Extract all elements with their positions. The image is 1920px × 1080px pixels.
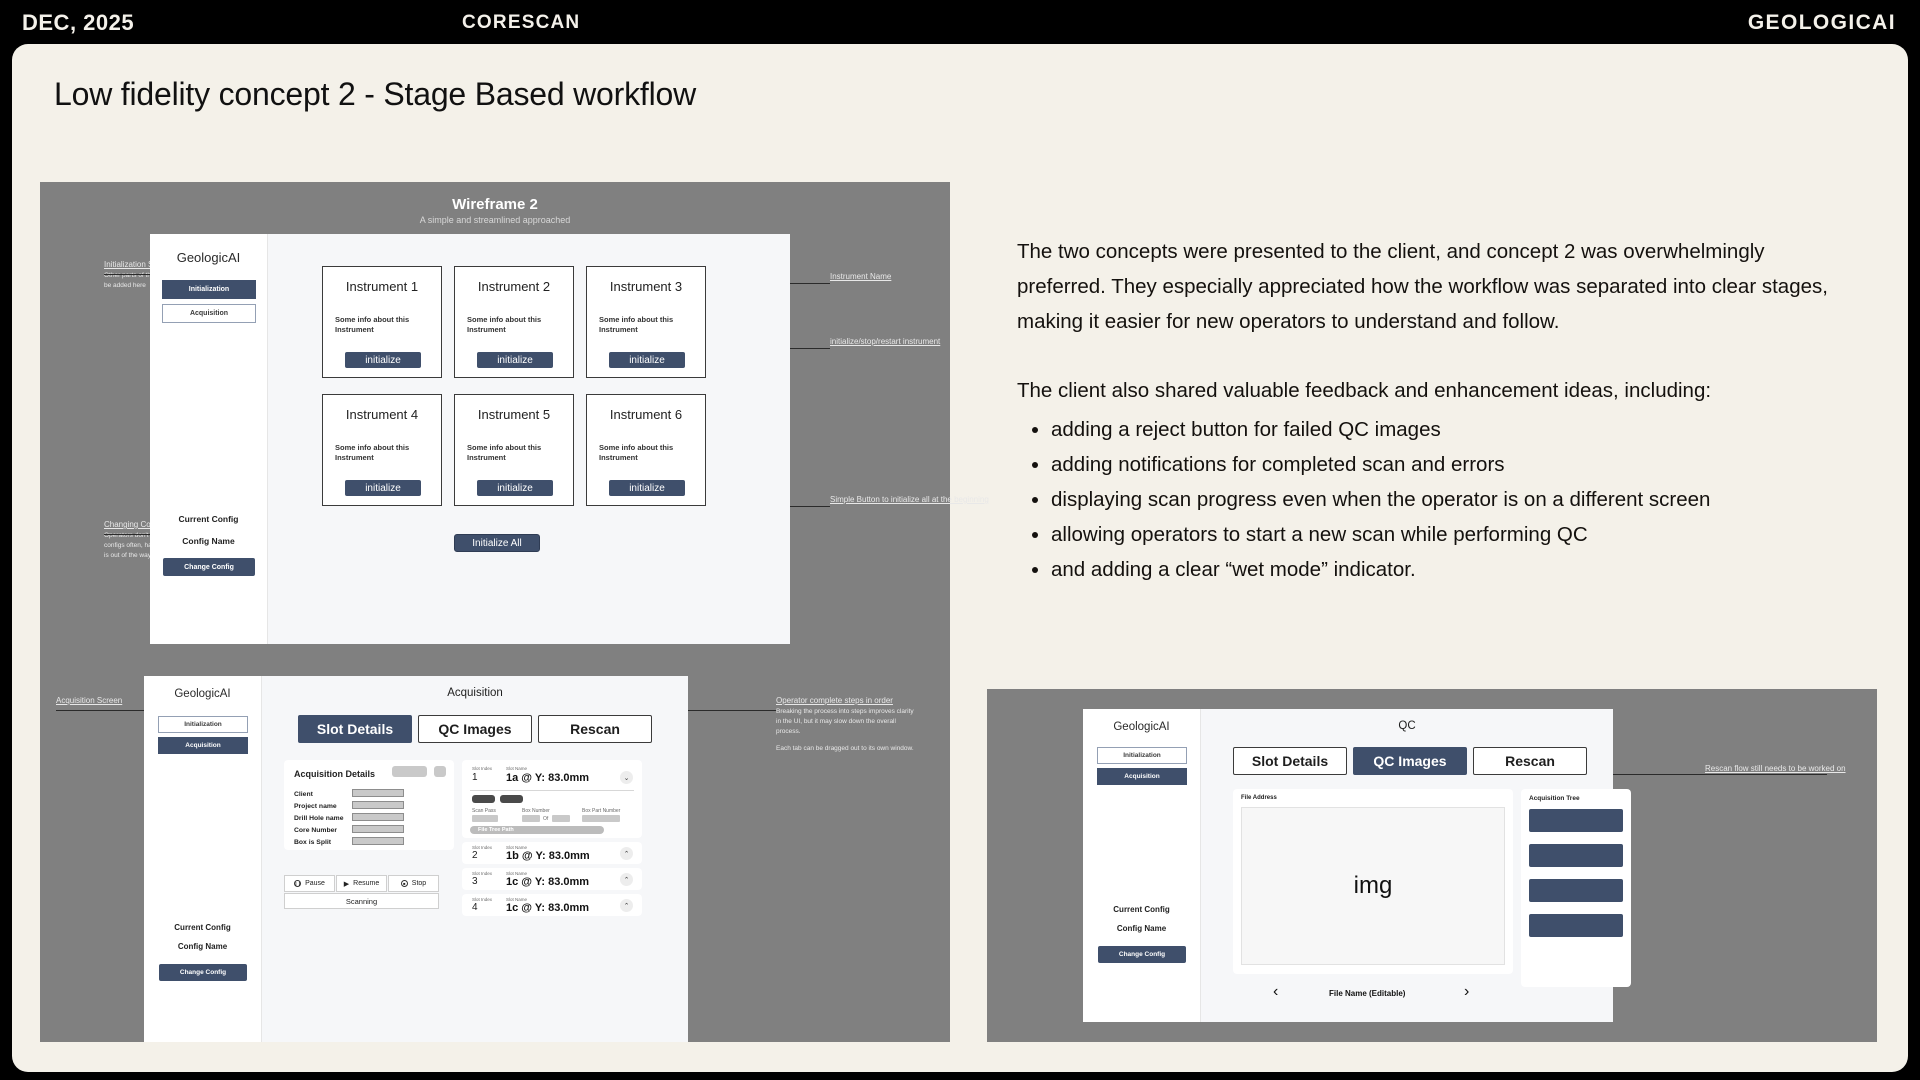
list-item: and adding a clear “wet mode” indicator.: [1051, 552, 1857, 587]
instrument-initialize-button[interactable]: initialize: [477, 352, 553, 368]
slot-name-value: 1b @ Y: 83.0mm: [506, 850, 590, 862]
config-name: Config Name: [144, 942, 261, 951]
app-main-initialization: Instrument 1 Some info about this Instru…: [268, 234, 790, 644]
prev-image-button[interactable]: ‹: [1273, 983, 1278, 1001]
scan-status-label: Scanning: [346, 897, 377, 906]
slide-canvas: Low fidelity concept 2 - Stage Based wor…: [12, 44, 1908, 1072]
tab-rescan[interactable]: Rescan: [1473, 747, 1587, 775]
initialize-all-label: Initialize All: [472, 538, 521, 549]
field-label-drill-hole-name: Drill Hole name: [294, 815, 343, 822]
annotation-title: Instrument Name: [830, 272, 891, 281]
tree-item[interactable]: [1529, 844, 1623, 867]
annotation-leader-line: [56, 710, 146, 711]
tree-item[interactable]: [1529, 879, 1623, 902]
instrument-initialize-button[interactable]: initialize: [609, 352, 685, 368]
instrument-info: Some info about this Instrument: [335, 443, 415, 463]
acquisition-tree-title: Acquisition Tree: [1529, 795, 1580, 802]
sidebar-item-initialization[interactable]: Initialization: [162, 280, 256, 299]
instrument-initialize-button[interactable]: initialize: [345, 352, 421, 368]
details-action-pill[interactable]: [392, 766, 427, 777]
field-label-project-name: Project name: [294, 803, 337, 810]
wireframe-panel-initialization: Wireframe 2 A simple and streamlined app…: [40, 182, 950, 657]
instrument-name: Instrument 2: [455, 279, 573, 294]
app-sidebar: GeologicAI Initialization Acquisition Cu…: [150, 234, 268, 644]
field-label-client: Client: [294, 791, 313, 798]
paragraph-concepts: The two concepts were presented to the c…: [1017, 234, 1857, 339]
instrument-info: Some info about this Instrument: [467, 443, 547, 463]
tab-qc-images[interactable]: QC Images: [1353, 747, 1467, 775]
qc-image-preview[interactable]: img: [1241, 807, 1505, 965]
file-name-label[interactable]: File Name (Editable): [1329, 989, 1405, 998]
tab-label: Slot Details: [317, 721, 393, 737]
resume-button[interactable]: ▶ Resume: [336, 875, 387, 892]
slot-row[interactable]: Slot Index 2 Slot Name 1b @ Y: 83.0mm ⌃: [462, 842, 642, 864]
sidebar-item-initialization[interactable]: Initialization: [158, 716, 248, 733]
wireframe-title: Wireframe 2: [40, 196, 950, 213]
topbar-company-logo: GEOLOGICAI: [1748, 11, 1896, 35]
tab-label: QC Images: [1373, 753, 1446, 769]
pause-button[interactable]: ❙❙ Pause: [284, 875, 335, 892]
wireframe-subtitle: A simple and streamlined approached: [40, 215, 950, 225]
instrument-name: Instrument 1: [323, 279, 441, 294]
resume-label: Resume: [353, 880, 379, 887]
sidebar-item-label: Initialization: [1123, 752, 1161, 759]
play-icon: ▶: [344, 880, 349, 888]
instrument-info: Some info about this Instrument: [467, 315, 547, 335]
topbar-project-name: CORESCAN: [462, 12, 580, 34]
chevron-up-icon[interactable]: ⌃: [620, 847, 633, 860]
tab-slot-details[interactable]: Slot Details: [298, 715, 412, 743]
annotation-rescan-flow: Rescan flow still needs to be worked on: [1705, 764, 1846, 773]
app-brand: GeologicAI: [144, 688, 261, 700]
change-config-label: Change Config: [184, 564, 234, 571]
instrument-initialize-label: initialize: [497, 355, 533, 366]
annotation-leader-line: [1605, 774, 1827, 775]
field-input-box-is-split[interactable]: [352, 837, 404, 845]
list-item: adding a reject button for failed QC ima…: [1051, 412, 1857, 447]
annotation-acquisition-screen: Acquisition Screen: [56, 696, 122, 705]
feedback-list: adding a reject button for failed QC ima…: [1051, 412, 1857, 587]
annotation-initialize-all: Simple Button to initialize all at the b…: [830, 495, 989, 504]
current-config-block: Current Config Config Name: [1083, 905, 1200, 933]
current-config-heading: Current Config: [144, 923, 261, 932]
instrument-initialize-button[interactable]: initialize: [345, 480, 421, 496]
change-config-button[interactable]: Change Config: [163, 558, 255, 576]
tab-label: Slot Details: [1252, 753, 1328, 769]
scan-status-bar: Scanning: [284, 893, 439, 909]
stop-icon: ■: [401, 880, 408, 887]
instrument-initialize-label: initialize: [365, 355, 401, 366]
initialize-all-button[interactable]: Initialize All: [454, 534, 540, 552]
slot-tag-pill-2[interactable]: [500, 795, 523, 803]
tab-rescan[interactable]: Rescan: [538, 715, 652, 743]
slot-index-value: 4: [472, 902, 478, 913]
field-input-client[interactable]: [352, 789, 404, 797]
slot-divider: [470, 790, 634, 791]
paragraph-feedback-intro: The client also shared valuable feedback…: [1017, 373, 1857, 408]
field-label-core-number: Core Number: [294, 827, 337, 834]
app-main-qc: QC Slot Details QC Images Rescan File Ad…: [1201, 709, 1613, 1022]
image-placeholder-label: img: [1354, 872, 1393, 900]
instrument-card[interactable]: Instrument 3 Some info about this Instru…: [586, 266, 706, 378]
instrument-name: Instrument 6: [587, 407, 705, 422]
instrument-name: Instrument 5: [455, 407, 573, 422]
annotation-instrument-actions: initialize/stop/restart instrument: [830, 337, 940, 346]
wireframe-panel-acquisition: Acquisition Screen Operator complete ste…: [40, 652, 950, 1042]
tab-slot-details[interactable]: Slot Details: [1233, 747, 1347, 775]
instrument-card[interactable]: Instrument 6 Some info about this Instru…: [586, 394, 706, 506]
instrument-initialize-button[interactable]: initialize: [609, 480, 685, 496]
file-tree-path-label: File Tree Path: [478, 827, 514, 833]
tab-label: Rescan: [1505, 753, 1555, 769]
instrument-name: Instrument 4: [323, 407, 441, 422]
instrument-initialize-label: initialize: [365, 483, 401, 494]
change-config-label: Change Config: [1119, 951, 1165, 958]
app-window-qc: GeologicAI Initialization Acquisition Cu…: [1083, 709, 1613, 1022]
tab-qc-images[interactable]: QC Images: [418, 715, 532, 743]
slot-name-value: 1c @ Y: 83.0mm: [506, 902, 589, 914]
instrument-initialize-label: initialize: [497, 483, 533, 494]
instrument-info: Some info about this Instrument: [335, 315, 415, 335]
sidebar-item-acquisition[interactable]: Acquisition: [158, 737, 248, 754]
annotation-desc-2: Each tab can be dragged out to its own w…: [776, 744, 916, 754]
pause-icon: ❙❙: [294, 880, 301, 887]
slot-name-value: 1a @ Y: 83.0mm: [506, 772, 589, 784]
topbar-date: DEC, 2025: [22, 10, 134, 36]
app-main-acquisition: Acquisition Slot Details QC Images Resca…: [262, 676, 688, 1042]
slot-index-value: 1: [472, 772, 478, 783]
of-label: Of: [543, 816, 548, 822]
stop-label: Stop: [412, 880, 426, 887]
wireframe-panel-qc: Rescan flow still needs to be worked on …: [987, 689, 1877, 1042]
box-part-number-input[interactable]: [582, 815, 620, 822]
app-sidebar: GeologicAI Initialization Acquisition Cu…: [1083, 709, 1201, 1022]
list-item: allowing operators to start a new scan w…: [1051, 517, 1857, 552]
sidebar-item-label: Acquisition: [190, 310, 228, 317]
instrument-info: Some info about this Instrument: [599, 315, 679, 335]
tab-label: Rescan: [570, 721, 620, 737]
field-input-core-number[interactable]: [352, 825, 404, 833]
qc-image-panel: File Address img: [1233, 789, 1513, 974]
app-brand: GeologicAI: [150, 250, 267, 265]
next-image-button[interactable]: ›: [1464, 983, 1469, 1001]
change-config-label: Change Config: [180, 969, 226, 976]
description-text-block: The two concepts were presented to the c…: [1017, 234, 1857, 587]
chevron-up-icon[interactable]: ⌃: [620, 899, 633, 912]
current-config-heading: Current Config: [150, 514, 267, 524]
box-part-number-label: Box Part Number: [582, 808, 620, 814]
box-number-total-input[interactable]: [552, 815, 570, 822]
slot-name-value: 1c @ Y: 83.0mm: [506, 876, 589, 888]
top-bar: DEC, 2025 CORESCAN GEOLOGICAI: [0, 0, 1920, 46]
instrument-card[interactable]: Instrument 2 Some info about this Instru…: [454, 266, 574, 378]
tree-item[interactable]: [1529, 914, 1623, 937]
instrument-card[interactable]: Instrument 4 Some info about this Instru…: [322, 394, 442, 506]
sidebar-item-label: Acquisition: [1124, 773, 1159, 780]
annotation-steps-in-order: Operator complete steps in order Breakin…: [776, 696, 916, 754]
screen-title: QC: [1201, 720, 1613, 732]
sidebar-item-label: Initialization: [189, 286, 229, 293]
instrument-initialize-label: initialize: [629, 355, 665, 366]
annotation-desc: Breaking the process into steps improves…: [776, 707, 916, 736]
details-action-square[interactable]: [434, 766, 446, 777]
annotation-title: Simple Button to initialize all at the b…: [830, 495, 989, 504]
current-config-block: Current Config Config Name: [150, 514, 267, 546]
list-item: adding notifications for completed scan …: [1051, 447, 1857, 482]
pause-label: Pause: [305, 880, 325, 887]
current-config-block: Current Config Config Name: [144, 923, 261, 951]
file-tree-path-field[interactable]: File Tree Path: [470, 826, 604, 834]
field-input-project-name[interactable]: [352, 801, 404, 809]
instrument-card[interactable]: Instrument 1 Some info about this Instru…: [322, 266, 442, 378]
slot-row-expanded[interactable]: Slot Index 1 Slot Name 1a @ Y: 83.0mm ⌄ …: [462, 760, 642, 838]
sidebar-item-initialization[interactable]: Initialization: [1097, 747, 1187, 764]
app-window-acquisition: GeologicAI Initialization Acquisition Cu…: [144, 676, 688, 1042]
config-name: Config Name: [1083, 924, 1200, 933]
sidebar-item-acquisition[interactable]: Acquisition: [1097, 768, 1187, 785]
app-brand: GeologicAI: [1083, 721, 1200, 733]
instrument-initialize-label: initialize: [629, 483, 665, 494]
current-config-heading: Current Config: [1083, 905, 1200, 914]
instrument-info: Some info about this Instrument: [599, 443, 679, 463]
instrument-initialize-button[interactable]: initialize: [477, 480, 553, 496]
chevron-down-icon[interactable]: ⌄: [620, 771, 633, 784]
scan-pass-input[interactable]: [472, 815, 498, 822]
field-label-box-is-split: Box is Split: [294, 839, 331, 846]
instrument-name: Instrument 3: [587, 279, 705, 294]
slot-index-caption: Slot Index: [472, 766, 492, 771]
slot-tag-pill-1[interactable]: [472, 795, 495, 803]
annotation-instrument-name: Instrument Name: [830, 272, 891, 281]
config-name: Config Name: [150, 536, 267, 546]
slot-row[interactable]: Slot Index 4 Slot Name 1c @ Y: 83.0mm ⌃: [462, 894, 642, 916]
tab-label: QC Images: [438, 721, 511, 737]
box-number-label: Box Number: [522, 808, 550, 814]
sidebar-item-label: Initialization: [184, 721, 222, 728]
screen-title: Acquisition: [262, 687, 688, 699]
annotation-title: Rescan flow still needs to be worked on: [1705, 764, 1846, 773]
page-title: Low fidelity concept 2 - Stage Based wor…: [54, 76, 696, 113]
acquisition-tree-panel: Acquisition Tree: [1521, 789, 1631, 987]
change-config-button[interactable]: Change Config: [159, 964, 247, 981]
field-input-drill-hole-name[interactable]: [352, 813, 404, 821]
chevron-up-icon[interactable]: ⌃: [620, 873, 633, 886]
app-sidebar: GeologicAI Initialization Acquisition Cu…: [144, 676, 262, 1042]
instrument-card[interactable]: Instrument 5 Some info about this Instru…: [454, 394, 574, 506]
sidebar-item-label: Acquisition: [185, 742, 220, 749]
annotation-title: initialize/stop/restart instrument: [830, 337, 940, 346]
slot-name-caption: Slot Name: [506, 766, 527, 771]
acquisition-details-card: Acquisition Details Client Project name …: [284, 760, 454, 850]
acquisition-details-title: Acquisition Details: [294, 769, 375, 779]
file-address-label: File Address: [1241, 795, 1277, 801]
annotation-title: Acquisition Screen: [56, 696, 122, 705]
stop-button[interactable]: ■ Stop: [388, 875, 439, 892]
sidebar-item-acquisition[interactable]: Acquisition: [162, 304, 256, 323]
change-config-button[interactable]: Change Config: [1098, 946, 1186, 963]
box-number-input[interactable]: [522, 815, 540, 822]
annotation-title: Operator complete steps in order: [776, 696, 916, 705]
slot-index-value: 2: [472, 850, 478, 861]
tree-item[interactable]: [1529, 809, 1623, 832]
list-item: displaying scan progress even when the o…: [1051, 482, 1857, 517]
scan-pass-label: Scan Pass: [472, 808, 496, 814]
slot-index-value: 3: [472, 876, 478, 887]
slot-row[interactable]: Slot Index 3 Slot Name 1c @ Y: 83.0mm ⌃: [462, 868, 642, 890]
app-window-initialization: GeologicAI Initialization Acquisition Cu…: [150, 234, 790, 644]
